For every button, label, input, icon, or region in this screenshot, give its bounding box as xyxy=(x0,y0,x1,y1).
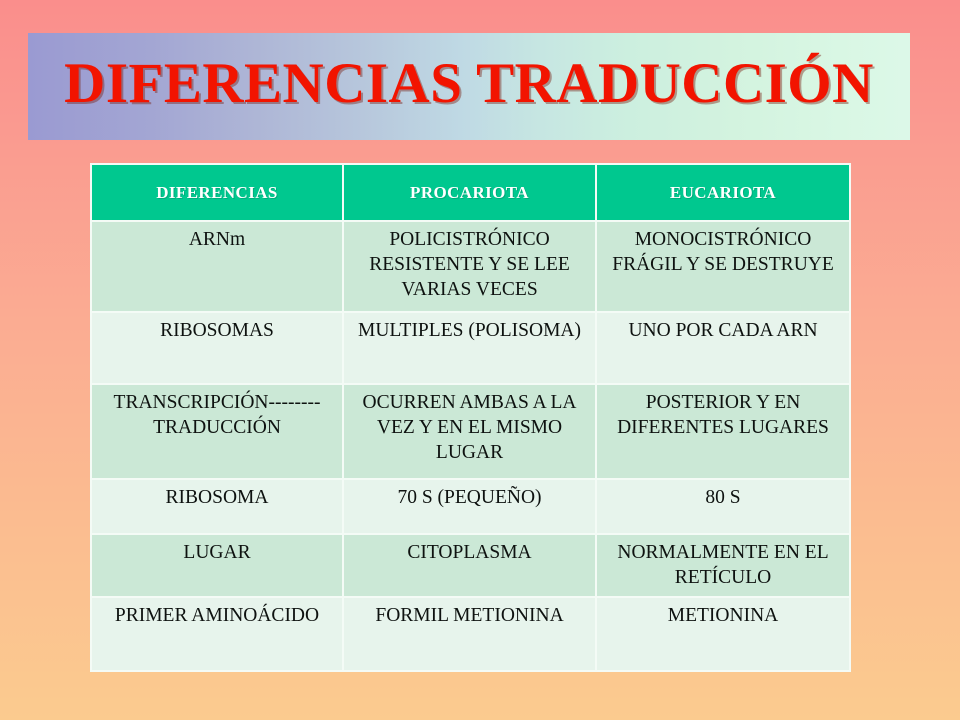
cell-procariota: CITOPLASMA xyxy=(343,534,596,597)
page-title: DIFERENCIAS TRADUCCIÓN xyxy=(64,55,874,118)
table-row: RIBOSOMAS MULTIPLES (POLISOMA) UNO POR C… xyxy=(91,312,850,384)
cell-diferencias: RIBOSOMA xyxy=(91,479,343,534)
table-header: DIFERENCIAS PROCARIOTA EUCARIOTA xyxy=(91,164,850,221)
table-row: PRIMER AMINOÁCIDO FORMIL METIONINA METIO… xyxy=(91,597,850,671)
column-header-eucariota: EUCARIOTA xyxy=(596,164,850,221)
cell-diferencias: PRIMER AMINOÁCIDO xyxy=(91,597,343,671)
table-body: ARNm POLICISTRÓNICO RESISTENTE Y SE LEE … xyxy=(91,221,850,671)
cell-eucariota: UNO POR CADA ARN xyxy=(596,312,850,384)
cell-diferencias: RIBOSOMAS xyxy=(91,312,343,384)
cell-diferencias: TRANSCRIPCIÓN--------TRADUCCIÓN xyxy=(91,384,343,479)
cell-eucariota: POSTERIOR Y EN DIFERENTES LUGARES xyxy=(596,384,850,479)
table-row: ARNm POLICISTRÓNICO RESISTENTE Y SE LEE … xyxy=(91,221,850,312)
cell-eucariota: METIONINA xyxy=(596,597,850,671)
cell-diferencias: LUGAR xyxy=(91,534,343,597)
cell-procariota: POLICISTRÓNICO RESISTENTE Y SE LEE VARIA… xyxy=(343,221,596,312)
table-header-row: DIFERENCIAS PROCARIOTA EUCARIOTA xyxy=(91,164,850,221)
table-row: RIBOSOMA 70 S (PEQUEÑO) 80 S xyxy=(91,479,850,534)
column-header-procariota: PROCARIOTA xyxy=(343,164,596,221)
cell-eucariota: 80 S xyxy=(596,479,850,534)
cell-eucariota: MONOCISTRÓNICO FRÁGIL Y SE DESTRUYE xyxy=(596,221,850,312)
cell-procariota: MULTIPLES (POLISOMA) xyxy=(343,312,596,384)
title-banner: DIFERENCIAS TRADUCCIÓN xyxy=(28,33,910,140)
cell-diferencias: ARNm xyxy=(91,221,343,312)
table-row: LUGAR CITOPLASMA NORMALMENTE EN EL RETÍC… xyxy=(91,534,850,597)
table-row: TRANSCRIPCIÓN--------TRADUCCIÓN OCURREN … xyxy=(91,384,850,479)
cell-procariota: 70 S (PEQUEÑO) xyxy=(343,479,596,534)
comparison-table: DIFERENCIAS PROCARIOTA EUCARIOTA ARNm PO… xyxy=(90,163,851,672)
column-header-diferencias: DIFERENCIAS xyxy=(91,164,343,221)
cell-procariota: OCURREN AMBAS A LA VEZ Y EN EL MISMO LUG… xyxy=(343,384,596,479)
cell-procariota: FORMIL METIONINA xyxy=(343,597,596,671)
cell-eucariota: NORMALMENTE EN EL RETÍCULO xyxy=(596,534,850,597)
